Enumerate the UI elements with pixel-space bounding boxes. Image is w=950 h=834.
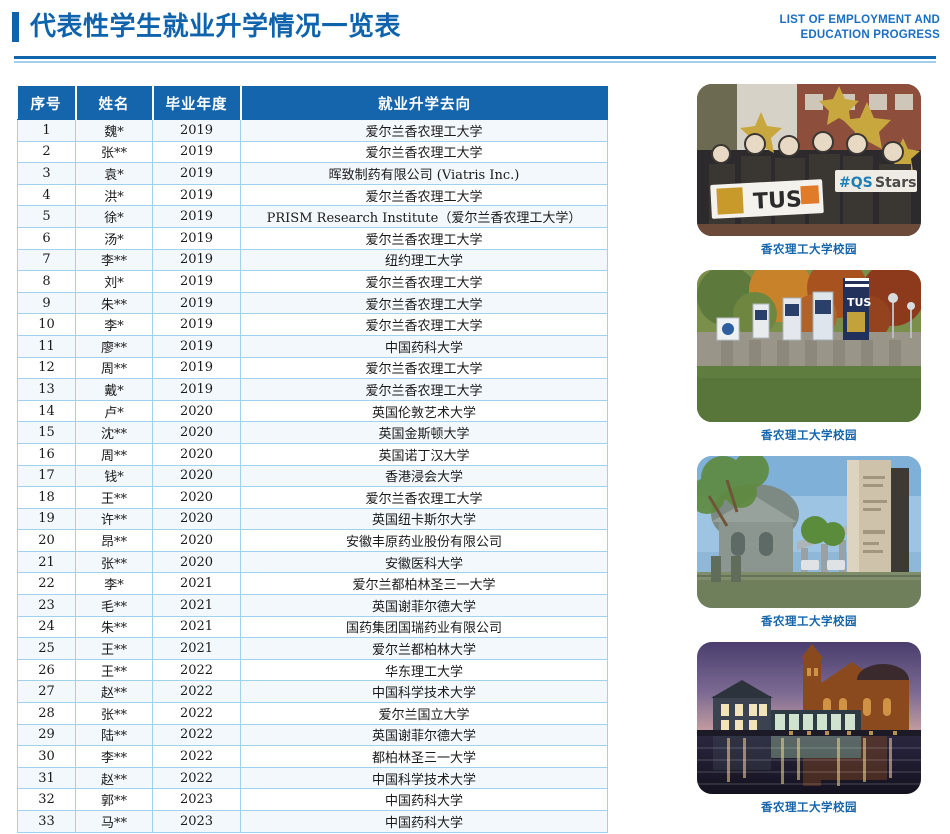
table-row: 13戴*2019爱尔兰香农理工大学 [18, 379, 608, 401]
header-divider-thin [14, 61, 936, 63]
table-row: 20昂**2020安徽丰原药业股份有限公司 [18, 530, 608, 552]
row-student-name: 钱* [76, 465, 153, 487]
column-header-grad-year: 毕业年度 [153, 87, 241, 120]
photo-caption-2: 香农理工大学校园 [697, 422, 921, 449]
row-grad-year: 2020 [153, 530, 241, 552]
row-destination: PRISM Research Institute（爱尔兰香农理工大学） [241, 206, 608, 228]
row-student-name: 陆** [76, 724, 153, 746]
row-index: 8 [18, 271, 76, 293]
riverside-cathedral-night-photo [697, 642, 921, 794]
row-student-name: 李** [76, 249, 153, 271]
photo-caption-1: 香农理工大学校园 [697, 236, 921, 263]
row-grad-year: 2020 [153, 508, 241, 530]
row-index: 26 [18, 659, 76, 681]
header-english-subtitle: LIST OF EMPLOYMENT AND EDUCATION PROGRES… [640, 13, 940, 43]
row-destination: 香港浸会大学 [241, 465, 608, 487]
row-grad-year: 2019 [153, 357, 241, 379]
table-row: 33马**2023中国药科大学 [18, 811, 608, 833]
table-row: 3袁*2019晖致制药有限公司 (Viatris Inc.) [18, 163, 608, 185]
row-destination: 中国科学技术大学 [241, 681, 608, 703]
table-row: 17钱*2020香港浸会大学 [18, 465, 608, 487]
row-index: 24 [18, 616, 76, 638]
table-row: 27赵**2022中国科学技术大学 [18, 681, 608, 703]
row-student-name: 张** [76, 141, 153, 163]
row-index: 17 [18, 465, 76, 487]
row-grad-year: 2019 [153, 379, 241, 401]
row-index: 22 [18, 573, 76, 595]
row-grad-year: 2022 [153, 703, 241, 725]
row-grad-year: 2020 [153, 443, 241, 465]
row-student-name: 卢* [76, 400, 153, 422]
table-row: 19许**2020英国纽卡斯尔大学 [18, 508, 608, 530]
row-index: 21 [18, 551, 76, 573]
row-destination: 中国科学技术大学 [241, 767, 608, 789]
page-title-block: 代表性学生就业升学情况一览表 [12, 12, 401, 42]
row-student-name: 张** [76, 551, 153, 573]
row-destination: 爱尔兰香农理工大学 [241, 379, 608, 401]
row-student-name: 张** [76, 703, 153, 725]
table-row: 11廖**2019中国药科大学 [18, 335, 608, 357]
row-grad-year: 2022 [153, 767, 241, 789]
tus-campus-entrance-monument-photo [697, 456, 921, 608]
row-index: 4 [18, 184, 76, 206]
row-student-name: 洪* [76, 184, 153, 206]
table-row: 29陆**2022英国谢菲尔德大学 [18, 724, 608, 746]
row-grad-year: 2020 [153, 465, 241, 487]
table-row: 24朱**2021国药集团国瑞药业有限公司 [18, 616, 608, 638]
table-row: 21张**2020安徽医科大学 [18, 551, 608, 573]
row-destination: 爱尔兰香农理工大学 [241, 357, 608, 379]
table-row: 16周**2020英国诺丁汉大学 [18, 443, 608, 465]
row-student-name: 毛** [76, 595, 153, 617]
photo-card-2: TUS 香农理工大学校园 [697, 270, 921, 449]
row-grad-year: 2022 [153, 724, 241, 746]
row-grad-year: 2019 [153, 206, 241, 228]
row-index: 20 [18, 530, 76, 552]
row-index: 33 [18, 811, 76, 833]
row-grad-year: 2022 [153, 746, 241, 768]
row-destination: 爱尔兰香农理工大学 [241, 314, 608, 336]
svg-text:TUS: TUS [752, 187, 802, 215]
table-body: 1魏*2019爱尔兰香农理工大学2张**2019爱尔兰香农理工大学3袁*2019… [18, 120, 608, 833]
row-destination: 英国纽卡斯尔大学 [241, 508, 608, 530]
row-grad-year: 2020 [153, 400, 241, 422]
table-row: 15沈**2020英国金斯顿大学 [18, 422, 608, 444]
row-student-name: 王** [76, 638, 153, 660]
table-row: 18王**2020爱尔兰香农理工大学 [18, 487, 608, 509]
row-grad-year: 2019 [153, 271, 241, 293]
row-grad-year: 2021 [153, 638, 241, 660]
row-destination: 英国谢菲尔德大学 [241, 724, 608, 746]
row-student-name: 昂** [76, 530, 153, 552]
row-index: 3 [18, 163, 76, 185]
table-row: 14卢*2020英国伦敦艺术大学 [18, 400, 608, 422]
table-row: 6汤*2019爱尔兰香农理工大学 [18, 227, 608, 249]
row-index: 5 [18, 206, 76, 228]
row-index: 2 [18, 141, 76, 163]
table-row: 28张**2022爱尔兰国立大学 [18, 703, 608, 725]
row-grad-year: 2019 [153, 227, 241, 249]
row-destination: 爱尔兰都柏林大学 [241, 638, 608, 660]
row-index: 11 [18, 335, 76, 357]
svg-text:Stars: Stars [875, 175, 916, 191]
row-index: 23 [18, 595, 76, 617]
row-student-name: 周** [76, 357, 153, 379]
row-destination: 爱尔兰香农理工大学 [241, 487, 608, 509]
row-destination: 爱尔兰国立大学 [241, 703, 608, 725]
photo-card-4: 香农理工大学校园 [697, 642, 921, 821]
row-destination: 华东理工大学 [241, 659, 608, 681]
table-row: 2张**2019爱尔兰香农理工大学 [18, 141, 608, 163]
header-english-line-1: LIST OF EMPLOYMENT AND [640, 13, 940, 28]
row-grad-year: 2019 [153, 141, 241, 163]
table-row: 9朱**2019爱尔兰香农理工大学 [18, 292, 608, 314]
row-grad-year: 2019 [153, 249, 241, 271]
row-index: 29 [18, 724, 76, 746]
row-student-name: 沈** [76, 422, 153, 444]
row-student-name: 郭** [76, 789, 153, 811]
row-student-name: 徐* [76, 206, 153, 228]
row-grad-year: 2019 [153, 120, 241, 142]
row-destination: 爱尔兰都柏林圣三一大学 [241, 573, 608, 595]
table-row: 5徐*2019PRISM Research Institute（爱尔兰香农理工大… [18, 206, 608, 228]
row-grad-year: 2019 [153, 184, 241, 206]
row-student-name: 朱** [76, 616, 153, 638]
table-row: 8刘*2019爱尔兰香农理工大学 [18, 271, 608, 293]
row-grad-year: 2022 [153, 659, 241, 681]
row-index: 30 [18, 746, 76, 768]
row-grad-year: 2019 [153, 163, 241, 185]
photo-caption-4: 香农理工大学校园 [697, 794, 921, 821]
table-row: 22李*2021爱尔兰都柏林圣三一大学 [18, 573, 608, 595]
row-destination: 都柏林圣三一大学 [241, 746, 608, 768]
row-destination: 中国药科大学 [241, 811, 608, 833]
table-row: 1魏*2019爱尔兰香农理工大学 [18, 120, 608, 142]
row-student-name: 王** [76, 487, 153, 509]
table-row: 23毛**2021英国谢菲尔德大学 [18, 595, 608, 617]
row-destination: 爱尔兰香农理工大学 [241, 184, 608, 206]
row-destination: 晖致制药有限公司 (Viatris Inc.) [241, 163, 608, 185]
row-student-name: 李** [76, 746, 153, 768]
row-student-name: 王** [76, 659, 153, 681]
table-row: 4洪*2019爱尔兰香农理工大学 [18, 184, 608, 206]
table-row: 25王**2021爱尔兰都柏林大学 [18, 638, 608, 660]
row-student-name: 廖** [76, 335, 153, 357]
title-accent-bar [12, 12, 19, 42]
row-student-name: 汤* [76, 227, 153, 249]
row-index: 28 [18, 703, 76, 725]
row-index: 12 [18, 357, 76, 379]
row-grad-year: 2021 [153, 595, 241, 617]
row-student-name: 赵** [76, 767, 153, 789]
row-destination: 爱尔兰香农理工大学 [241, 120, 608, 142]
photo-card-3: 香农理工大学校园 [697, 456, 921, 635]
row-destination: 英国谢菲尔德大学 [241, 595, 608, 617]
row-destination: 爱尔兰香农理工大学 [241, 141, 608, 163]
table-header-row: 序号 姓名 毕业年度 就业升学去向 [18, 87, 608, 120]
row-index: 7 [18, 249, 76, 271]
row-grad-year: 2020 [153, 551, 241, 573]
table-row: 7李**2019纽约理工大学 [18, 249, 608, 271]
table-row: 26王**2022华东理工大学 [18, 659, 608, 681]
column-header-name: 姓名 [76, 87, 153, 120]
header-divider-thick [14, 56, 936, 59]
row-destination: 安徽医科大学 [241, 551, 608, 573]
tus-autumn-campus-banners-photo: TUS [697, 270, 921, 422]
row-student-name: 许** [76, 508, 153, 530]
table-row: 12周**2019爱尔兰香农理工大学 [18, 357, 608, 379]
row-student-name: 朱** [76, 292, 153, 314]
row-index: 18 [18, 487, 76, 509]
row-index: 9 [18, 292, 76, 314]
employment-education-table: 序号 姓名 毕业年度 就业升学去向 1魏*2019爱尔兰香农理工大学2张**20… [17, 86, 608, 833]
row-destination: 中国药科大学 [241, 335, 608, 357]
row-grad-year: 2022 [153, 681, 241, 703]
table-header: 序号 姓名 毕业年度 就业升学去向 [18, 87, 608, 120]
photo-card-1: TUS #QS Stars 香农理工大学校园 [697, 84, 921, 263]
row-student-name: 李* [76, 573, 153, 595]
row-destination: 英国诺丁汉大学 [241, 443, 608, 465]
row-student-name: 戴* [76, 379, 153, 401]
row-index: 13 [18, 379, 76, 401]
row-index: 31 [18, 767, 76, 789]
roster-table-container: 序号 姓名 毕业年度 就业升学去向 1魏*2019爱尔兰香农理工大学2张**20… [17, 86, 607, 833]
row-index: 15 [18, 422, 76, 444]
row-destination: 纽约理工大学 [241, 249, 608, 271]
column-header-destination: 就业升学去向 [241, 87, 608, 120]
page-title: 代表性学生就业升学情况一览表 [30, 12, 401, 42]
table-row: 32郭**2023中国药科大学 [18, 789, 608, 811]
row-grad-year: 2019 [153, 335, 241, 357]
table-row: 30李**2022都柏林圣三一大学 [18, 746, 608, 768]
row-student-name: 马** [76, 811, 153, 833]
row-destination: 英国伦敦艺术大学 [241, 400, 608, 422]
page-header: 代表性学生就业升学情况一览表 LIST OF EMPLOYMENT AND ED… [0, 0, 950, 72]
column-header-index: 序号 [18, 87, 76, 120]
tus-group-celebration-photo: TUS #QS Stars [697, 84, 921, 236]
row-grad-year: 2023 [153, 811, 241, 833]
row-index: 6 [18, 227, 76, 249]
table-row: 31赵**2022中国科学技术大学 [18, 767, 608, 789]
photo-caption-3: 香农理工大学校园 [697, 608, 921, 635]
row-index: 16 [18, 443, 76, 465]
row-destination: 爱尔兰香农理工大学 [241, 271, 608, 293]
row-destination: 爱尔兰香农理工大学 [241, 292, 608, 314]
row-student-name: 袁* [76, 163, 153, 185]
row-grad-year: 2023 [153, 789, 241, 811]
row-student-name: 李* [76, 314, 153, 336]
row-grad-year: 2020 [153, 422, 241, 444]
row-destination: 英国金斯顿大学 [241, 422, 608, 444]
row-destination: 安徽丰原药业股份有限公司 [241, 530, 608, 552]
svg-text:TUS: TUS [847, 296, 871, 309]
row-index: 1 [18, 120, 76, 142]
row-index: 10 [18, 314, 76, 336]
row-student-name: 魏* [76, 120, 153, 142]
header-english-line-2: EDUCATION PROGRESS [640, 28, 940, 43]
row-index: 14 [18, 400, 76, 422]
row-grad-year: 2020 [153, 487, 241, 509]
row-index: 25 [18, 638, 76, 660]
row-destination: 中国药科大学 [241, 789, 608, 811]
row-index: 32 [18, 789, 76, 811]
photo-rail: TUS #QS Stars 香农理工大学校园 [697, 84, 921, 828]
row-grad-year: 2021 [153, 573, 241, 595]
row-grad-year: 2021 [153, 616, 241, 638]
row-student-name: 周** [76, 443, 153, 465]
row-student-name: 赵** [76, 681, 153, 703]
row-destination: 爱尔兰香农理工大学 [241, 227, 608, 249]
row-index: 27 [18, 681, 76, 703]
svg-text:#QS: #QS [839, 175, 873, 191]
row-destination: 国药集团国瑞药业有限公司 [241, 616, 608, 638]
row-grad-year: 2019 [153, 292, 241, 314]
row-grad-year: 2019 [153, 314, 241, 336]
row-index: 19 [18, 508, 76, 530]
row-student-name: 刘* [76, 271, 153, 293]
table-row: 10李*2019爱尔兰香农理工大学 [18, 314, 608, 336]
